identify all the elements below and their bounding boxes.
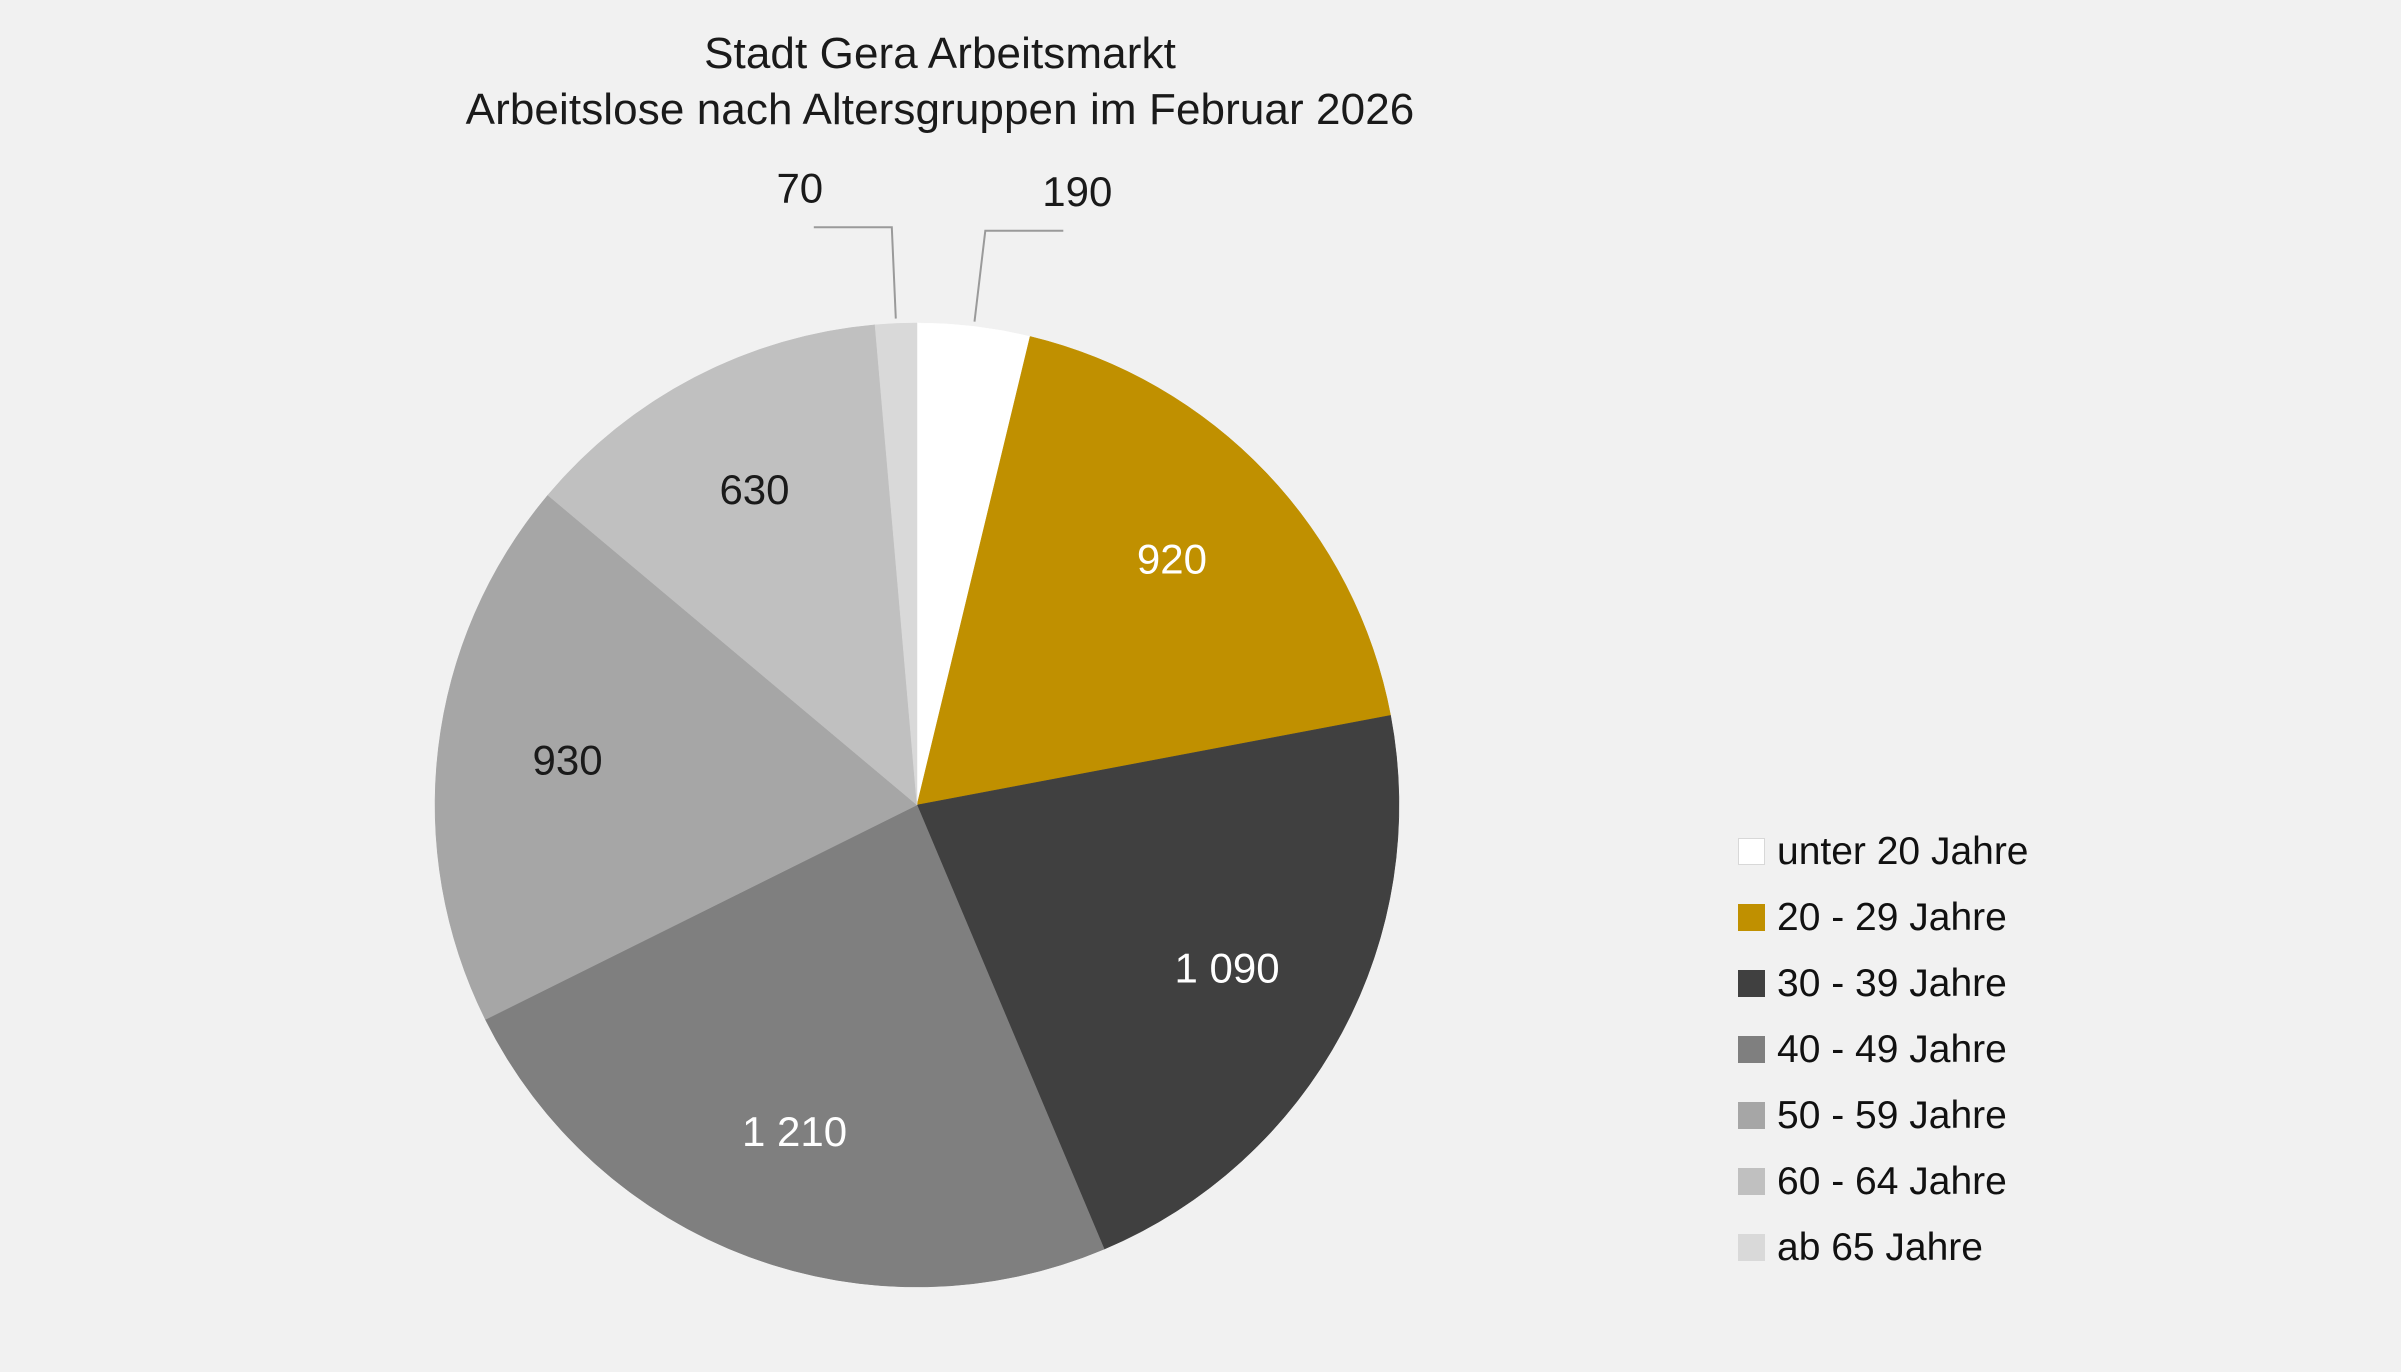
legend-item[interactable]: 50 - 59 Jahre xyxy=(1738,1082,2029,1148)
legend-swatch-icon xyxy=(1738,904,1765,931)
legend-swatch-icon xyxy=(1738,970,1765,997)
legend-item[interactable]: 60 - 64 Jahre xyxy=(1738,1148,2029,1214)
legend-item[interactable]: ab 65 Jahre xyxy=(1738,1214,2029,1280)
legend-item-label: ab 65 Jahre xyxy=(1777,1228,1983,1267)
label-leader-line xyxy=(814,227,896,318)
slice-value-label: 190 xyxy=(1042,168,1112,215)
chart-page: Stadt Gera Arbeitsmarkt Arbeitslose nach… xyxy=(0,0,2401,1372)
legend-swatch-icon xyxy=(1738,1036,1765,1063)
legend-swatch-icon xyxy=(1738,1168,1765,1195)
label-leader-line xyxy=(975,231,1064,322)
legend-item[interactable]: 40 - 49 Jahre xyxy=(1738,1016,2029,1082)
slice-value-label: 1 210 xyxy=(742,1108,847,1155)
slice-value-label: 70 xyxy=(776,164,823,211)
legend: unter 20 Jahre20 - 29 Jahre30 - 39 Jahre… xyxy=(1738,818,2029,1280)
legend-item-label: 50 - 59 Jahre xyxy=(1777,1096,2007,1135)
slice-value-label: 1 090 xyxy=(1175,944,1280,991)
legend-item-label: unter 20 Jahre xyxy=(1777,832,2029,871)
legend-item[interactable]: 30 - 39 Jahre xyxy=(1738,950,2029,1016)
legend-swatch-icon xyxy=(1738,1234,1765,1261)
slice-value-label: 920 xyxy=(1137,536,1207,583)
legend-item-label: 40 - 49 Jahre xyxy=(1777,1030,2007,1069)
pie-slices-group xyxy=(435,323,1399,1287)
slice-value-label: 930 xyxy=(533,736,603,783)
legend-item-label: 60 - 64 Jahre xyxy=(1777,1162,2007,1201)
legend-item[interactable]: unter 20 Jahre xyxy=(1738,818,2029,884)
legend-swatch-icon xyxy=(1738,1102,1765,1129)
leader-lines-group xyxy=(814,227,1064,321)
legend-item[interactable]: 20 - 29 Jahre xyxy=(1738,884,2029,950)
legend-item-label: 20 - 29 Jahre xyxy=(1777,898,2007,937)
legend-swatch-icon xyxy=(1738,838,1765,865)
slice-value-label: 630 xyxy=(719,466,789,513)
pie-chart: 1909201 0901 21093063070 xyxy=(0,0,2401,1372)
legend-item-label: 30 - 39 Jahre xyxy=(1777,964,2007,1003)
